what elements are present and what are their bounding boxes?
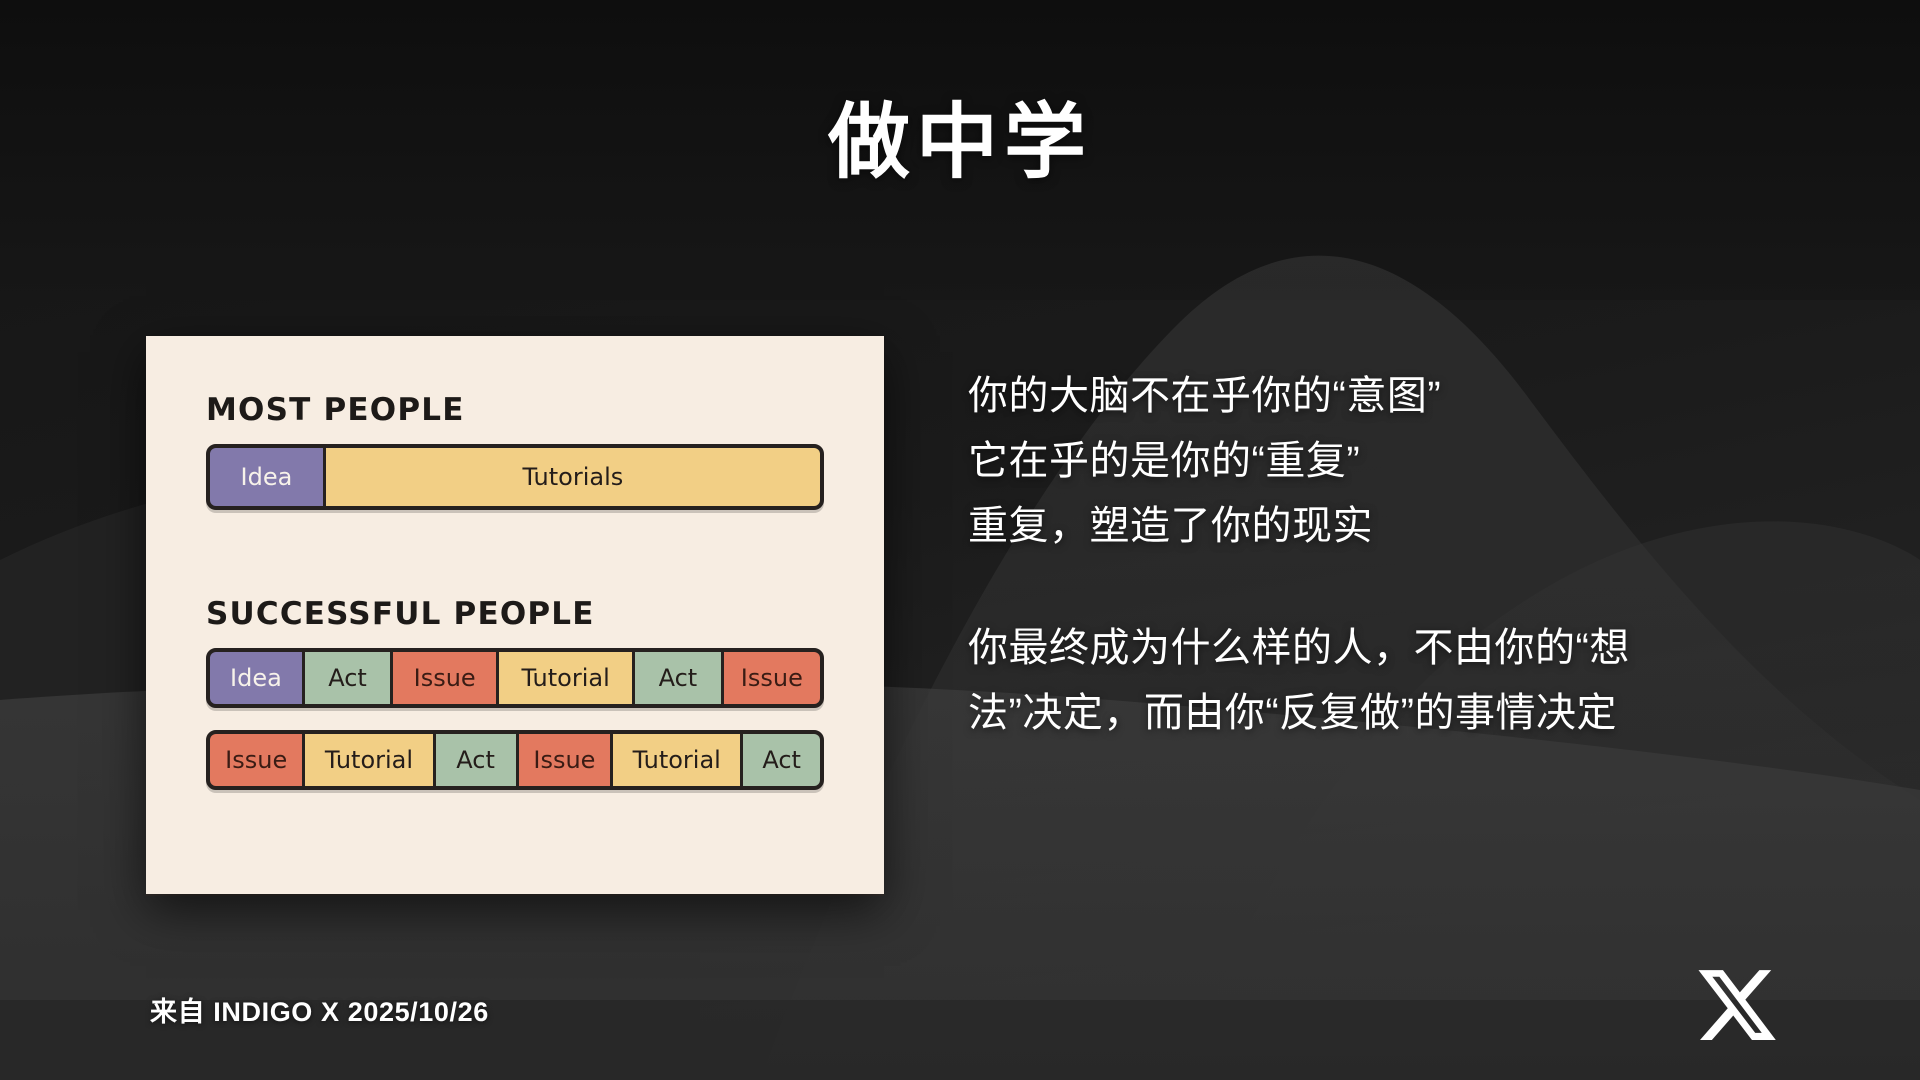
copy-line-5: 法”决定，而由你“反复做”的事情决定 bbox=[968, 681, 1828, 746]
process-block-tut: Tutorials bbox=[326, 448, 820, 506]
card-surface: MOST PEOPLEIdeaTutorialsSUCCESSFUL PEOPL… bbox=[146, 336, 884, 894]
process-block-act: Act bbox=[635, 652, 723, 704]
section-spacer bbox=[206, 510, 824, 596]
process-block-act: Act bbox=[743, 734, 820, 786]
body-copy: 你的大脑不在乎你的“意图” 它在乎的是你的“重复” 重复，塑造了你的现实 你最终… bbox=[968, 364, 1828, 746]
paragraph-spacer bbox=[968, 558, 1828, 616]
process-block-act: Act bbox=[436, 734, 519, 786]
process-block-idea: Idea bbox=[210, 652, 305, 704]
footer-credit: 来自 INDIGO X 2025/10/26 bbox=[150, 990, 489, 1029]
process-block-issue: Issue bbox=[724, 652, 820, 704]
process-block-tut: Tutorial bbox=[499, 652, 635, 704]
process-block-idea: Idea bbox=[210, 448, 326, 506]
process-block-issue: Issue bbox=[519, 734, 613, 786]
process-block-issue: Issue bbox=[210, 734, 305, 786]
section-heading: MOST PEOPLE bbox=[206, 392, 824, 428]
row-spacer bbox=[206, 708, 824, 730]
copy-line-1: 你的大脑不在乎你的“意图” bbox=[968, 364, 1828, 429]
section-heading: SUCCESSFUL PEOPLE bbox=[206, 596, 824, 632]
process-bar: IssueTutorialActIssueTutorialAct bbox=[206, 730, 824, 790]
process-bar: IdeaTutorials bbox=[206, 444, 824, 510]
copy-line-4: 你最终成为什么样的人，不由你的“想 bbox=[968, 616, 1828, 681]
process-block-issue: Issue bbox=[393, 652, 499, 704]
illustration-card: MOST PEOPLEIdeaTutorialsSUCCESSFUL PEOPL… bbox=[146, 336, 884, 894]
process-block-tut: Tutorial bbox=[613, 734, 743, 786]
card-sections: MOST PEOPLEIdeaTutorialsSUCCESSFUL PEOPL… bbox=[146, 336, 884, 790]
copy-line-3: 重复，塑造了你的现实 bbox=[968, 494, 1828, 559]
x-logo-icon bbox=[1694, 962, 1780, 1048]
page-title: 做中学 bbox=[0, 96, 1920, 190]
copy-line-2: 它在乎的是你的“重复” bbox=[968, 429, 1828, 494]
process-block-tut: Tutorial bbox=[305, 734, 435, 786]
process-block-act: Act bbox=[305, 652, 393, 704]
process-bar: IdeaActIssueTutorialActIssue bbox=[206, 648, 824, 708]
